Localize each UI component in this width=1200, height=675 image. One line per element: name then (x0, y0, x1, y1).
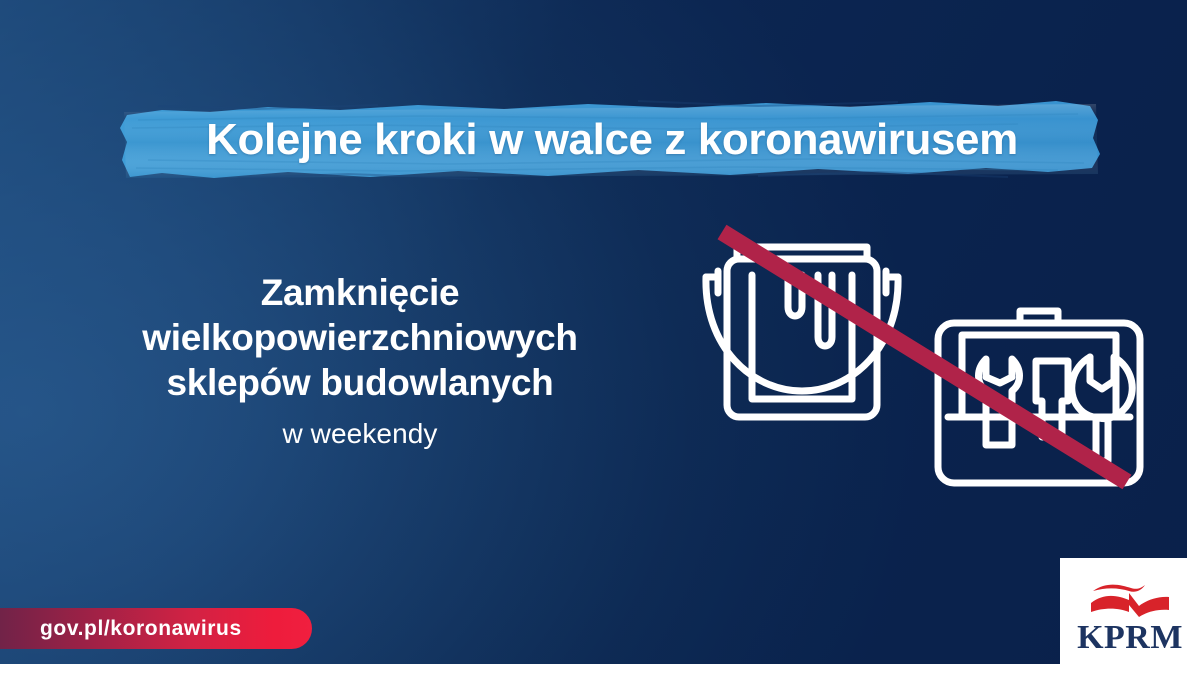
banner-title-text: Kolejne kroki w walce z koronawirusem (118, 98, 1106, 182)
title-banner: Kolejne kroki w walce z koronawirusem (118, 98, 1106, 182)
prohibition-slash-icon (722, 232, 1127, 482)
headline-subline: w weekendy (60, 417, 660, 451)
headline-line-2: wielkopowierzchniowych (60, 315, 660, 360)
polish-flag-emblem-icon (1087, 579, 1173, 619)
gov-url-badge[interactable]: gov.pl/koronawirus (0, 608, 312, 649)
kprm-acronym: KPRM (1077, 621, 1183, 655)
headline-line-3: sklepów budowlanych (60, 360, 660, 405)
kprm-logo: KPRM (1060, 558, 1200, 675)
toolbox-icon (938, 311, 1140, 483)
gov-url-label: gov.pl/koronawirus (40, 617, 242, 641)
headline-block: Zamknięcie wielkopowierzchniowych sklepó… (60, 270, 660, 451)
icon-group (690, 215, 1150, 505)
headline-line-1: Zamknięcie (60, 270, 660, 315)
icon-group-svg (690, 215, 1150, 505)
poster: Kolejne kroki w walce z koronawirusem Za… (0, 0, 1200, 675)
